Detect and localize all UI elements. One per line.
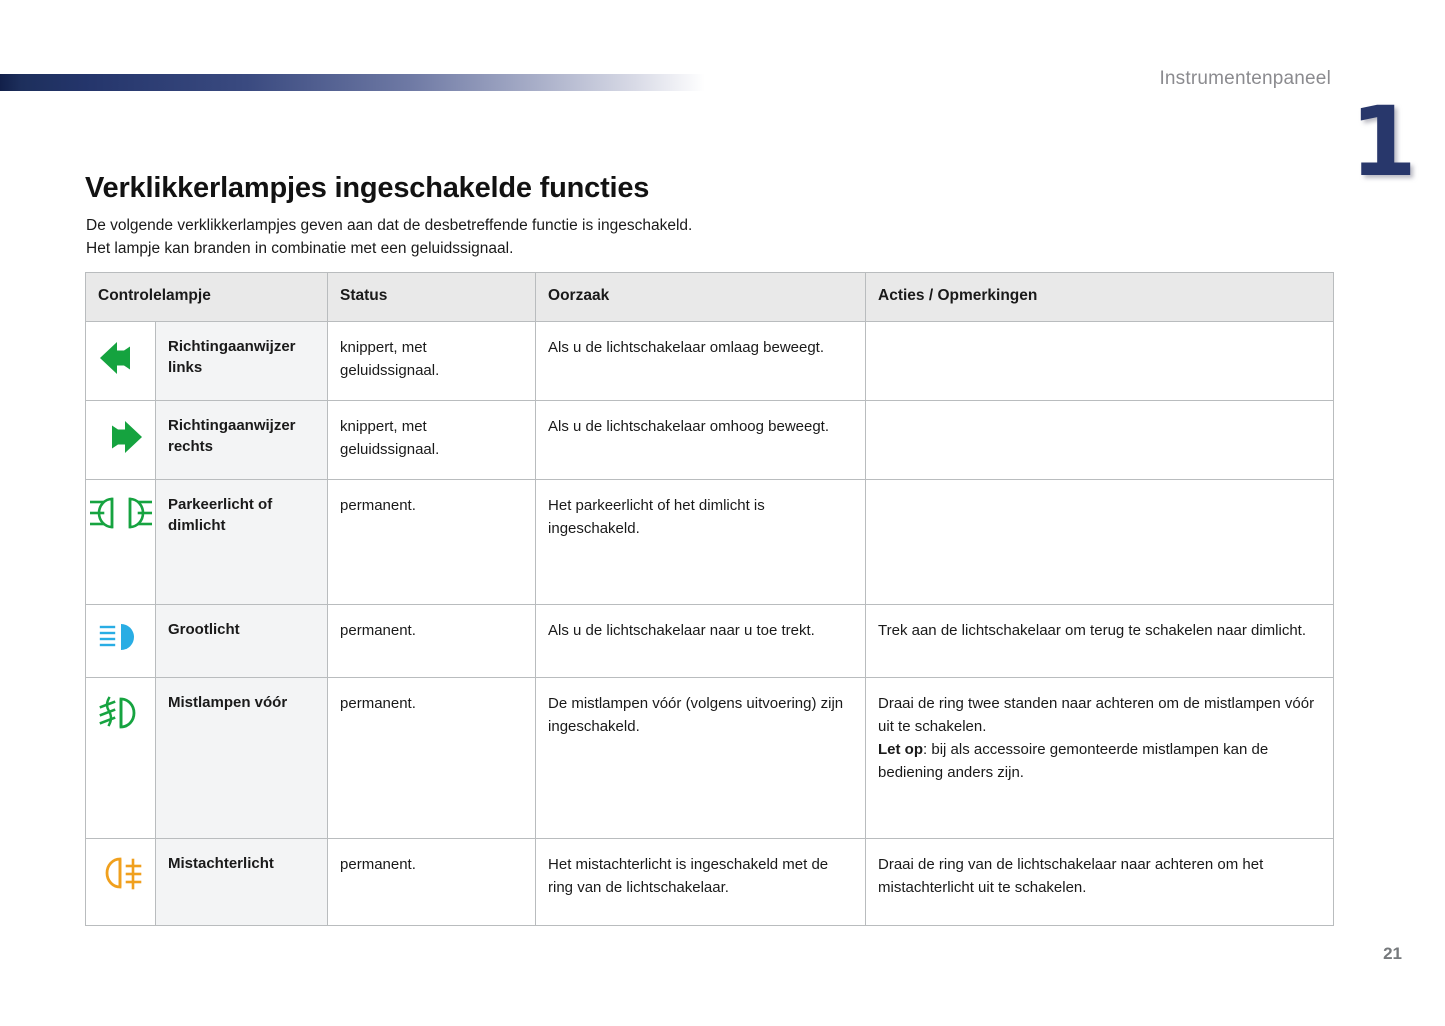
- tell-tale-icon-cell: [86, 678, 156, 839]
- tell-tale-lights-table: Controlelampje Status Oorzaak Acties / O…: [85, 272, 1334, 926]
- tell-tale-status: permanent.: [328, 839, 536, 926]
- tell-tale-action: [866, 480, 1334, 605]
- tell-tale-status: knippert, met geluidssignaal.: [328, 401, 536, 480]
- tell-tale-icon-cell: [86, 480, 156, 605]
- intro-line-2: Het lampje kan branden in combinatie met…: [86, 237, 692, 260]
- column-header-status: Status: [328, 273, 536, 322]
- tell-tale-action: Trek aan de lichtschakelaar om terug te …: [866, 605, 1334, 678]
- table-row: Mistlampen vóór permanent. De mistlampen…: [86, 678, 1334, 839]
- rear-fog-lamp-icon: [99, 855, 143, 893]
- tell-tale-name: Richtingaanwijzer rechts: [156, 401, 328, 480]
- column-header-oorzaak: Oorzaak: [536, 273, 866, 322]
- tell-tale-cause: Als u de lichtschakelaar omlaag beweegt.: [536, 322, 866, 401]
- tell-tale-status: knippert, met geluidssignaal.: [328, 322, 536, 401]
- table-header-row: Controlelampje Status Oorzaak Acties / O…: [86, 273, 1334, 322]
- turn-signal-right-icon: [97, 417, 145, 457]
- tell-tale-status: permanent.: [328, 605, 536, 678]
- tell-tale-cause: Het mistachterlicht is ingeschakeld met …: [536, 839, 866, 926]
- tell-tale-action: Draai de ring van de lichtschakelaar naa…: [866, 839, 1334, 926]
- column-header-acties: Acties / Opmerkingen: [866, 273, 1334, 322]
- tell-tale-cause: Het parkeerlicht of het dimlicht is inge…: [536, 480, 866, 605]
- tell-tale-cause: De mistlampen vóór (volgens uitvoering) …: [536, 678, 866, 839]
- tell-tale-cause: Als u de lichtschakelaar omhoog beweegt.: [536, 401, 866, 480]
- action-note-text: : bij als accessoire gemonteerde mistlam…: [878, 741, 1268, 781]
- action-note-label: Let op: [878, 741, 923, 758]
- page-number: 21: [1383, 944, 1402, 964]
- tell-tale-name: Mistlampen vóór: [156, 678, 328, 839]
- chapter-title: Instrumentenpaneel: [1159, 68, 1331, 90]
- tell-tale-name: Grootlicht: [156, 605, 328, 678]
- tell-tale-icon-cell: [86, 605, 156, 678]
- front-fog-lamp-icon: [98, 694, 144, 732]
- tell-tale-status: permanent.: [328, 678, 536, 839]
- header-gradient-rule: [0, 74, 705, 91]
- intro-line-1: De volgende verklikkerlampjes geven aan …: [86, 214, 692, 237]
- page-title: Verklikkerlampjes ingeschakelde functies: [85, 172, 649, 205]
- tell-tale-action: [866, 322, 1334, 401]
- tell-tale-action: [866, 401, 1334, 480]
- parking-light-or-dipped-beam-icon: [90, 496, 152, 530]
- table-row: Grootlicht permanent. Als u de lichtscha…: [86, 605, 1334, 678]
- tell-tale-name: Richtingaanwijzer links: [156, 322, 328, 401]
- tell-tale-icon-cell: [86, 401, 156, 480]
- tell-tale-icon-cell: [86, 839, 156, 926]
- table-row: Mistachterlicht permanent. Het mistachte…: [86, 839, 1334, 926]
- tell-tale-cause: Als u de lichtschakelaar naar u toe trek…: [536, 605, 866, 678]
- tell-tale-name: Parkeerlicht of dimlicht: [156, 480, 328, 605]
- tell-tale-name: Mistachterlicht: [156, 839, 328, 926]
- chapter-number-tab: 1: [1350, 98, 1402, 186]
- turn-signal-left-icon: [97, 338, 145, 378]
- action-note: Let op: bij als accessoire gemonteerde m…: [878, 738, 1319, 784]
- intro-paragraph: De volgende verklikkerlampjes geven aan …: [86, 214, 692, 260]
- table-row: Richtingaanwijzer rechts knippert, met g…: [86, 401, 1334, 480]
- tell-tale-icon-cell: [86, 322, 156, 401]
- tell-tale-status: permanent.: [328, 480, 536, 605]
- table-row: Parkeerlicht of dimlicht permanent. Het …: [86, 480, 1334, 605]
- table-row: Richtingaanwijzer links knippert, met ge…: [86, 322, 1334, 401]
- tell-tale-action: Draai de ring twee standen naar achteren…: [866, 678, 1334, 839]
- column-header-controlelampje: Controlelampje: [86, 273, 328, 322]
- action-main-text: Draai de ring twee standen naar achteren…: [878, 692, 1319, 738]
- high-beam-icon: [99, 621, 143, 653]
